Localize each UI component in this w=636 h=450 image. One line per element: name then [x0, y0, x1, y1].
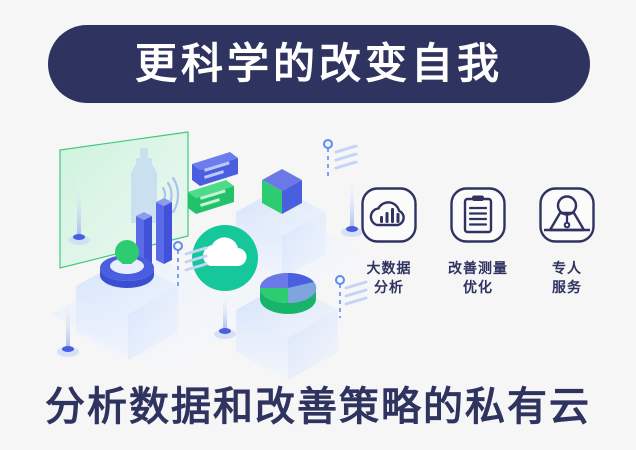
feature-list: 大数据分析 改善测量优化 — [352, 186, 604, 336]
feature-item-big-data[interactable]: 大数据分析 — [352, 186, 426, 336]
feature-item-measurement[interactable]: 改善测量优化 — [441, 186, 515, 336]
isometric-illustration — [40, 118, 370, 380]
promo-banner-page: 更科学的改变自我 — [0, 0, 636, 450]
bottom-headline: 分析数据和改善策略的私有云 — [0, 384, 636, 430]
info-card-blue — [192, 152, 238, 186]
feature-item-service[interactable]: 专人服务 — [530, 186, 604, 336]
page-title-banner: 更科学的改变自我 — [48, 25, 590, 103]
feature-label-measurement: 改善测量优化 — [448, 259, 508, 297]
feature-label-service: 专人服务 — [552, 259, 582, 297]
cloud-bar-chart-icon — [360, 186, 418, 244]
page-title: 更科学的改变自我 — [135, 43, 503, 85]
clipboard-lines-icon — [449, 186, 507, 244]
info-card-green — [188, 180, 234, 214]
feature-label-big-data: 大数据分析 — [367, 259, 412, 297]
service-person-icon — [538, 186, 596, 244]
